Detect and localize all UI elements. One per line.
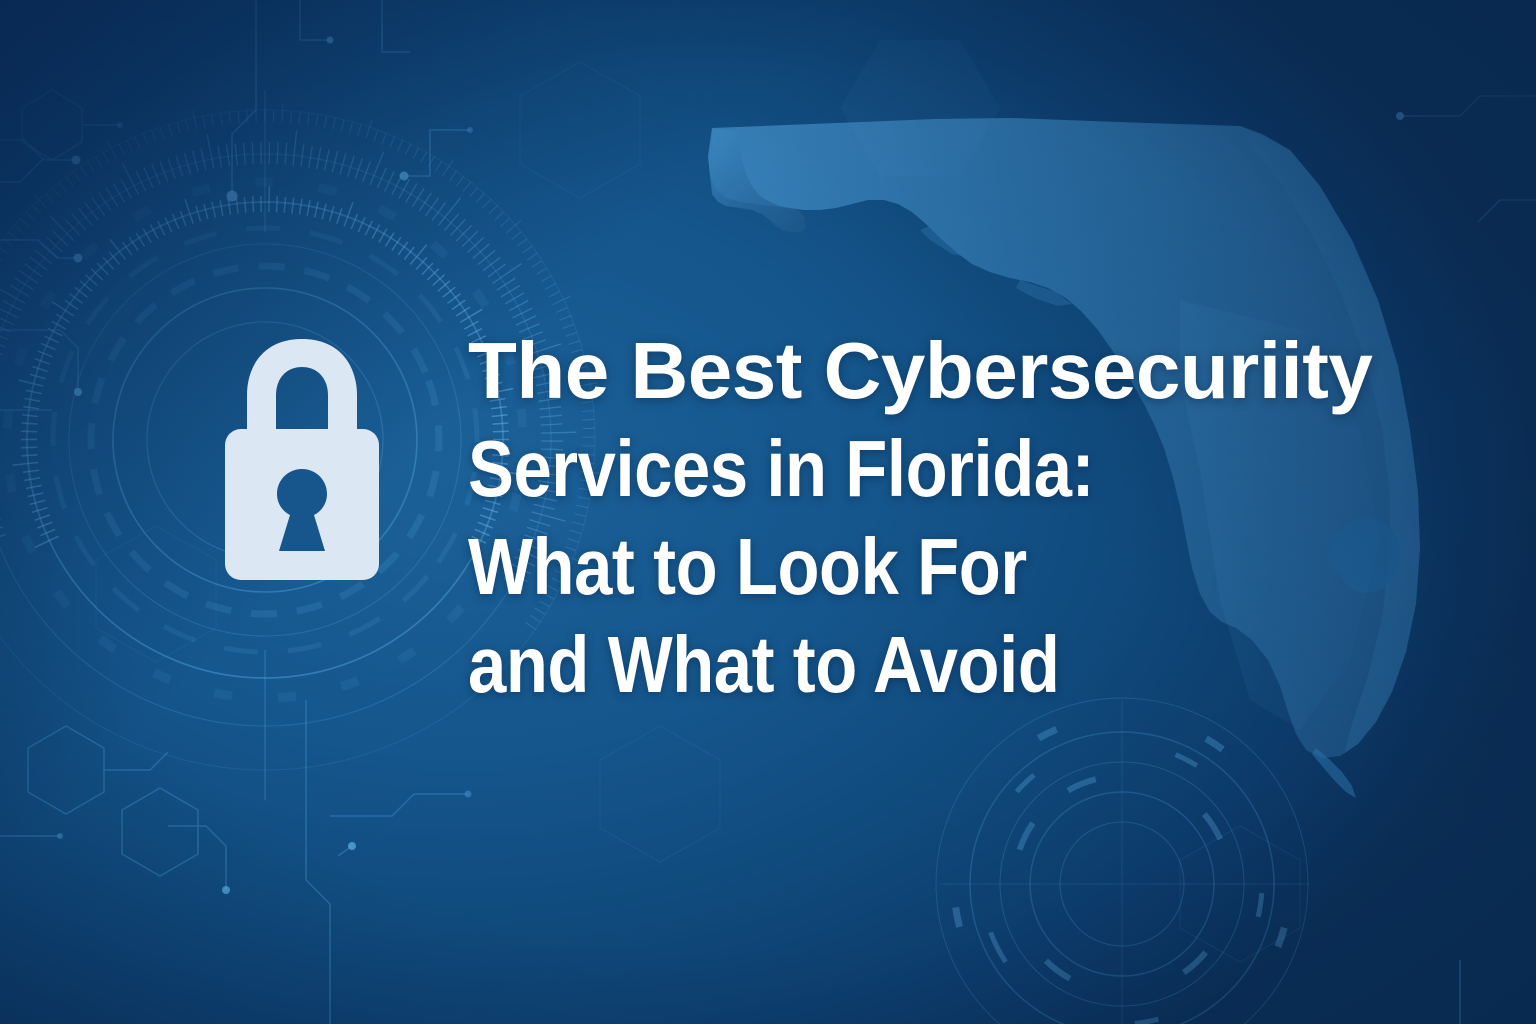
banner-root: The Best Cybersecuriity Services in Flor… [0,0,1536,1024]
headline-line-4: and What to Avoid [468,616,1259,714]
page-title: The Best Cybersecuriity Services in Flor… [468,322,1388,714]
headline-line-2: Services in Florida: [468,420,1259,518]
headline-line-3: What to Look For [468,518,1259,616]
padlock-icon [213,333,391,586]
headline-line-1: The Best Cybersecuriity [468,322,1388,420]
